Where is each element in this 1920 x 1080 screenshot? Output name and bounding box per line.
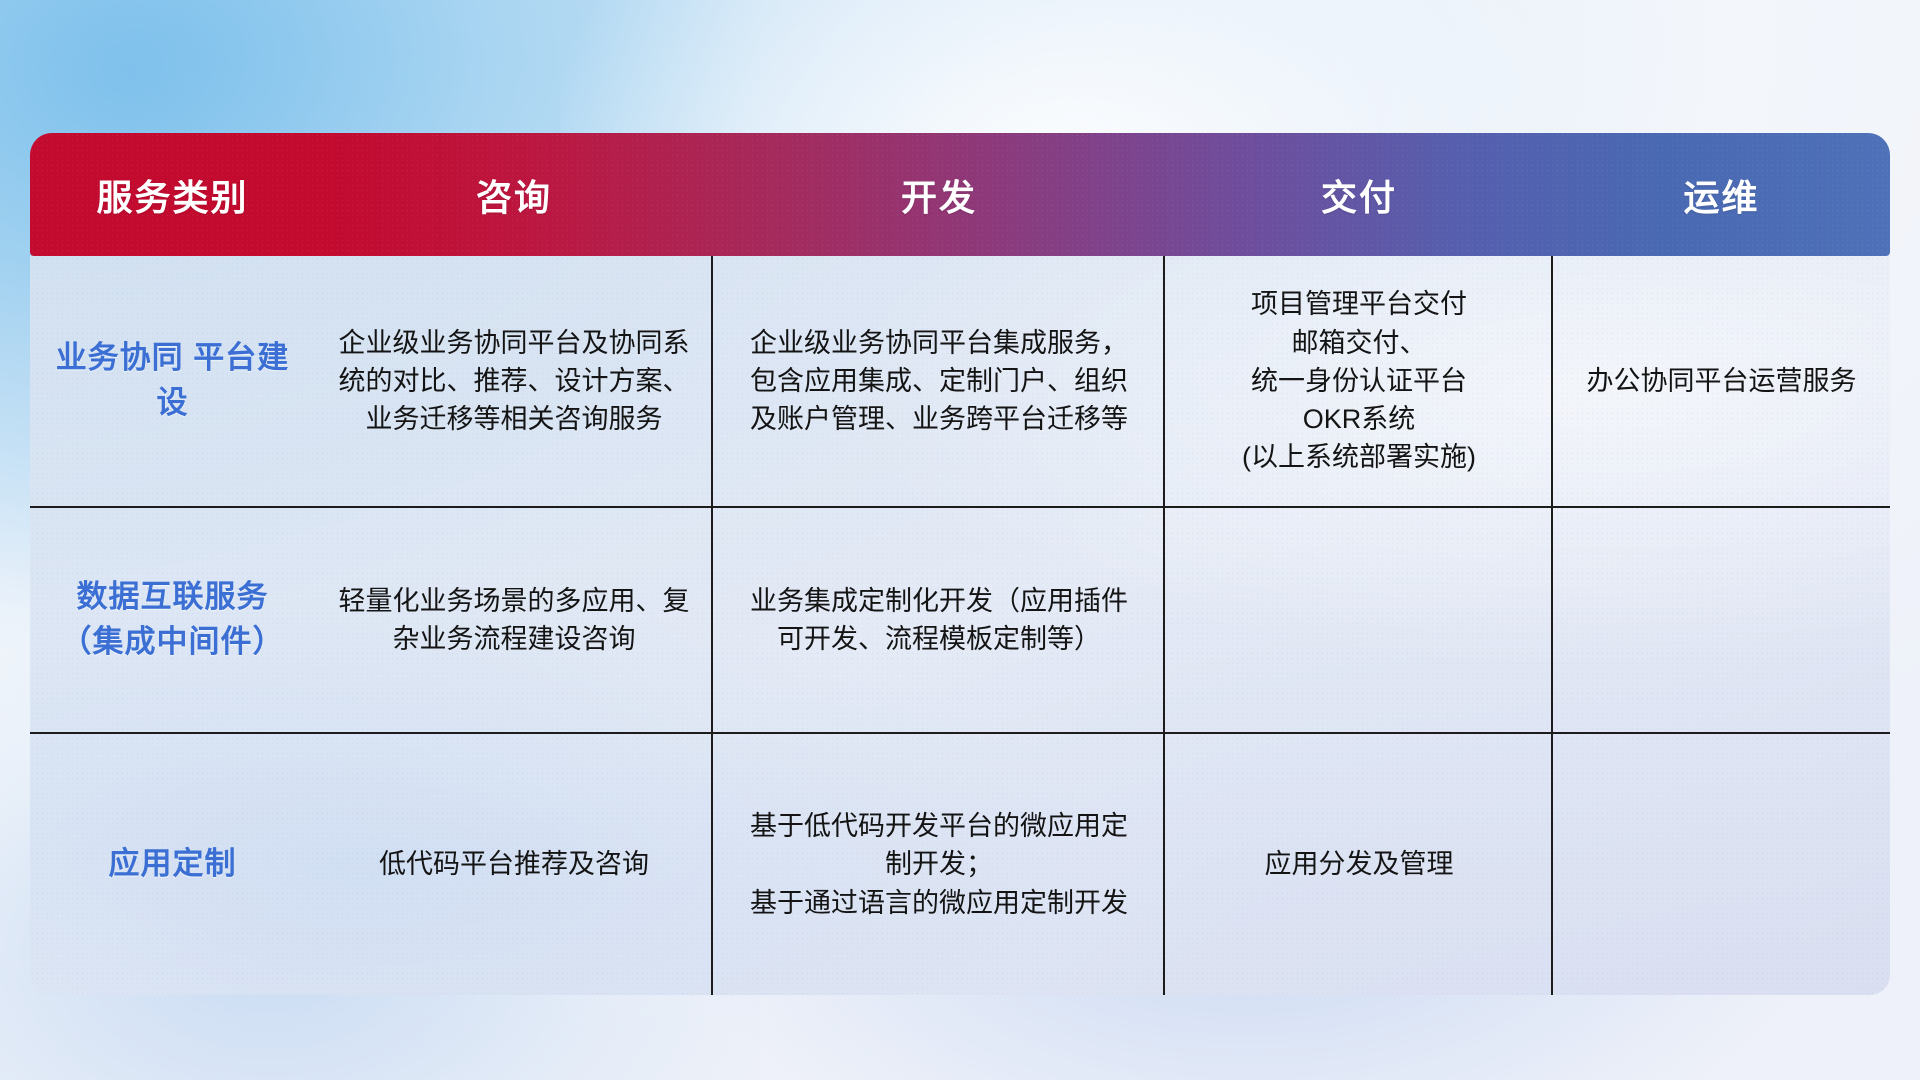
cell-category: 应用定制 [30,734,315,995]
column-header-delivery: 交付 [1165,169,1553,221]
column-header-consulting: 咨询 [315,169,713,221]
cell-consulting: 企业级业务协同平台及协同系 统的对比、推荐、设计方案、 业务迁移等相关咨询服务 [315,256,713,506]
cell-text: 基于低代码开发平台的微应用定 制开发； 基于通过语言的微应用定制开发 [750,807,1128,922]
cell-development: 基于低代码开发平台的微应用定 制开发； 基于通过语言的微应用定制开发 [713,734,1165,995]
cell-consulting: 低代码平台推荐及咨询 [315,734,713,995]
cell-operations: 办公协同平台运营服务 [1553,256,1890,506]
service-matrix-table: 服务类别 咨询 开发 交付 运维 业务协同 平台建设 企业级业务协同平台及协同系… [30,133,1890,995]
column-header-category: 服务类别 [30,169,315,221]
cell-development: 业务集成定制化开发（应用插件 可开发、流程模板定制等） [713,508,1165,732]
category-label: 应用定制 [109,842,237,887]
column-header-operations: 运维 [1553,169,1890,221]
cell-delivery [1165,508,1553,732]
cell-text: 轻量化业务场景的多应用、复 杂业务流程建设咨询 [339,582,690,659]
cell-text: 企业级业务协同平台及协同系 统的对比、推荐、设计方案、 业务迁移等相关咨询服务 [339,324,690,439]
cell-delivery: 项目管理平台交付 邮箱交付、 统一身份认证平台 OKR系统 (以上系统部署实施) [1165,256,1553,506]
table-header-row: 服务类别 咨询 开发 交付 运维 [30,133,1890,256]
category-label: 业务协同 平台建设 [44,336,301,426]
cell-operations [1553,734,1890,995]
cell-text: 业务集成定制化开发（应用插件 可开发、流程模板定制等） [750,582,1128,659]
cell-text: 企业级业务协同平台集成服务， 包含应用集成、定制门户、组织 及账户管理、业务跨平… [750,324,1128,439]
table-row: 应用定制 低代码平台推荐及咨询 基于低代码开发平台的微应用定 制开发； 基于通过… [30,732,1890,995]
column-header-development: 开发 [713,169,1165,221]
cell-operations [1553,508,1890,732]
cell-text: 办公协同平台运营服务 [1587,362,1857,400]
cell-text: 低代码平台推荐及咨询 [379,845,649,883]
cell-category: 数据互联服务 （集成中间件） [30,508,315,732]
cell-delivery: 应用分发及管理 [1165,734,1553,995]
cell-category: 业务协同 平台建设 [30,256,315,506]
cell-text: 项目管理平台交付 邮箱交付、 统一身份认证平台 OKR系统 (以上系统部署实施) [1242,285,1476,477]
table-body: 业务协同 平台建设 企业级业务协同平台及协同系 统的对比、推荐、设计方案、 业务… [30,256,1890,995]
category-label: 数据互联服务 （集成中间件） [44,575,301,665]
table-row: 数据互联服务 （集成中间件） 轻量化业务场景的多应用、复 杂业务流程建设咨询 业… [30,506,1890,732]
cell-consulting: 轻量化业务场景的多应用、复 杂业务流程建设咨询 [315,508,713,732]
cell-text: 应用分发及管理 [1265,845,1454,883]
table-row: 业务协同 平台建设 企业级业务协同平台及协同系 统的对比、推荐、设计方案、 业务… [30,256,1890,506]
cell-development: 企业级业务协同平台集成服务， 包含应用集成、定制门户、组织 及账户管理、业务跨平… [713,256,1165,506]
